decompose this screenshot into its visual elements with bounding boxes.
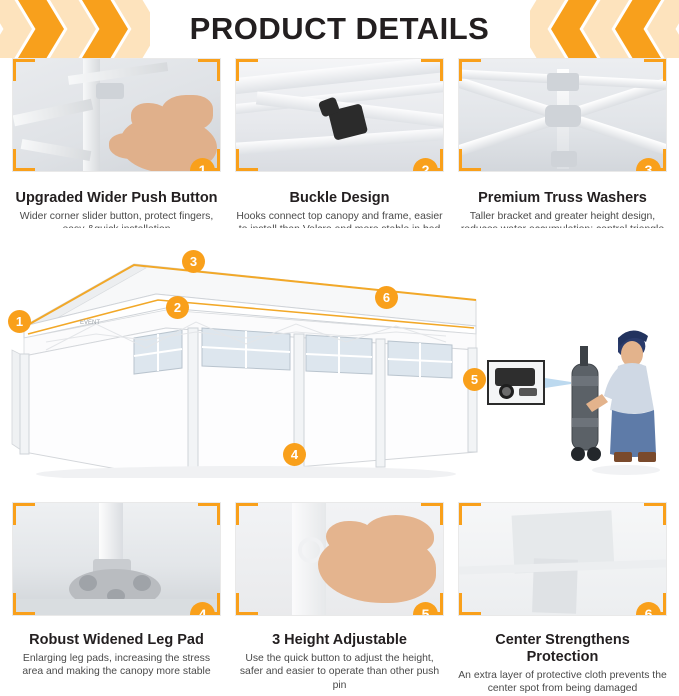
feature-1-corner-bl [13, 149, 35, 171]
feature-2-corner-bl [236, 149, 258, 171]
feature-3-corner-tr [644, 59, 666, 81]
feature-3-photo: 3 [458, 58, 667, 172]
feature-4-corner-tl [13, 503, 35, 525]
feature-4-description: Enlarging leg pads, increasing the stres… [12, 652, 221, 679]
feature-5-corner-tl [236, 503, 258, 525]
feature-card-2: 2 Buckle Design Hooks connect top canopy… [235, 58, 444, 250]
feature-2-photo: 2 [235, 58, 444, 172]
feature-card-3: 3 Premium Truss Washers Taller bracket a… [458, 58, 667, 250]
scene-callout-2: 2 [166, 296, 189, 319]
feature-3-title: Premium Truss Washers [458, 190, 667, 207]
product-scene: EVENT 1 2 3 4 6 5 [0, 228, 679, 494]
feature-5-corner-tr [421, 503, 443, 525]
svg-text:EVENT: EVENT [80, 320, 100, 326]
feature-4-corner-bl [13, 593, 35, 615]
feature-3-corner-tl [459, 59, 481, 81]
feature-2-corner-tl [236, 59, 258, 81]
feature-1-photo: 1 [12, 58, 221, 172]
feature-4-title: Robust Widened Leg Pad [12, 632, 221, 649]
feature-card-5: 5 3 Height Adjustable Use the quick butt… [235, 502, 444, 692]
feature-5-corner-bl [236, 593, 258, 615]
feature-6-corner-bl [459, 593, 481, 615]
feature-2-corner-tr [421, 59, 443, 81]
feature-4-corner-tr [198, 503, 220, 525]
wheel-closeup-inset [487, 360, 545, 405]
feature-5-title: 3 Height Adjustable [235, 632, 444, 649]
feature-5-photo: 5 [235, 502, 444, 616]
feature-4-photo: 4 [12, 502, 221, 616]
feature-5-description: Use the quick button to adjust the heigh… [235, 652, 444, 692]
scene-callout-3: 3 [182, 250, 205, 273]
feature-1-title: Upgraded Wider Push Button [12, 190, 221, 207]
page-title: PRODUCT DETAILS [0, 4, 679, 54]
feature-2-title: Buckle Design [235, 190, 444, 207]
scene-callout-1: 1 [8, 310, 31, 333]
scene-callout-6: 6 [375, 286, 398, 309]
feature-6-photo: 6 [458, 502, 667, 616]
feature-6-description: An extra layer of protective cloth preve… [458, 669, 667, 696]
feature-3-corner-bl [459, 149, 481, 171]
feature-1-corner-tl [13, 59, 35, 81]
feature-card-6: 6 Center Strengthens Protection An extra… [458, 502, 667, 696]
feature-6-corner-tl [459, 503, 481, 525]
scene-callout-4: 4 [283, 443, 306, 466]
feature-card-1: 1 Upgraded Wider Push Button Wider corne… [12, 58, 221, 237]
page-header: PRODUCT DETAILS [0, 0, 679, 58]
feature-1-corner-tr [198, 59, 220, 81]
feature-card-4: 4 Robust Widened Leg Pad Enlarging leg p… [12, 502, 221, 679]
feature-6-corner-tr [644, 503, 666, 525]
canopy-illustration: EVENT [6, 238, 506, 478]
scene-callout-5: 5 [463, 368, 486, 391]
feature-6-title: Center Strengthens Protection [458, 632, 667, 666]
person-with-carry-bag [540, 306, 679, 476]
